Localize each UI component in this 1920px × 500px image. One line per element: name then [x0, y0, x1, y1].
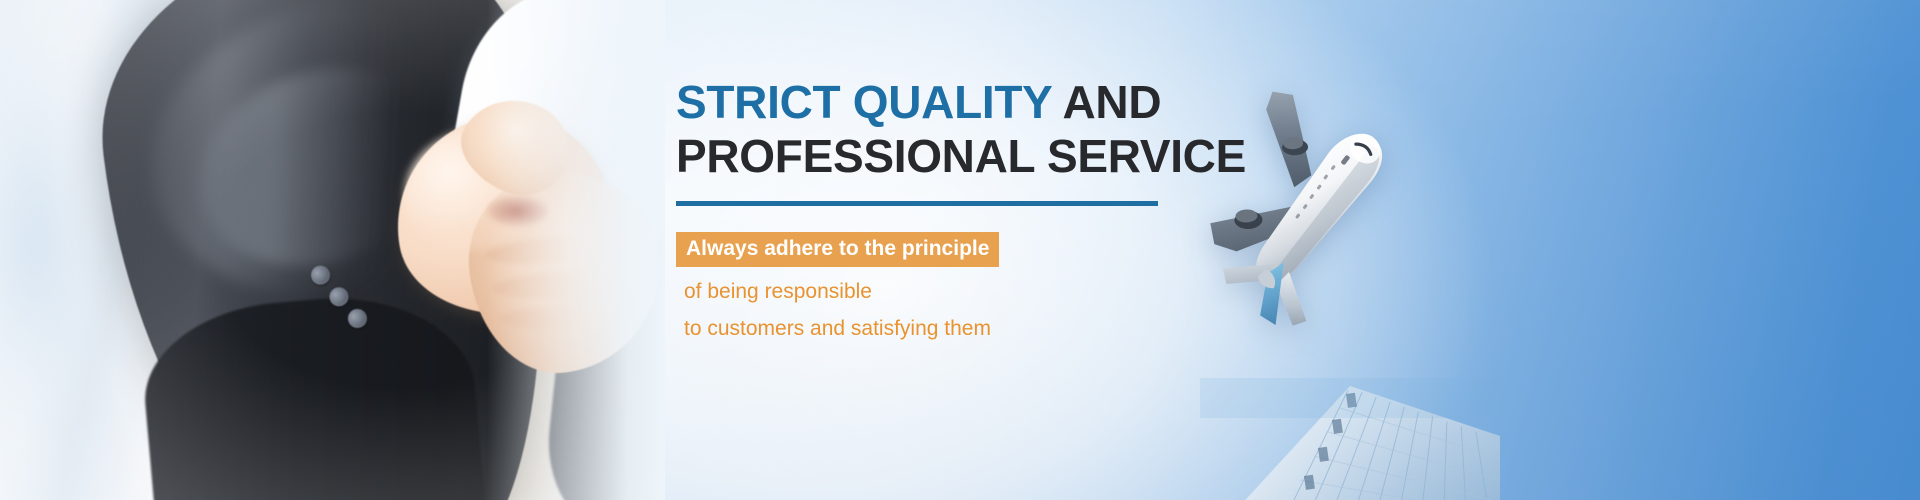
headline-line-2-text: PROFESSIONAL SERVICE — [676, 130, 1246, 182]
headline-line-1: STRICT QUALITY AND — [676, 76, 1236, 128]
handshake-photo — [0, 0, 665, 500]
headline-dark-text: AND — [1052, 76, 1162, 128]
headline-divider — [676, 201, 1158, 206]
headline-accent-text: STRICT QUALITY — [676, 76, 1052, 128]
tagline-highlight-box: Always adhere to the principle — [676, 232, 999, 268]
headline-line-2: PROFESSIONAL SERVICE — [676, 130, 1236, 182]
photo-right-fade — [487, 0, 665, 500]
tagline-line-3: to customers and satisfying them — [684, 317, 1236, 340]
promotional-banner: STRICT QUALITY AND PROFESSIONAL SERVICE … — [0, 0, 1920, 500]
tagline-line-2: of being responsible — [684, 280, 1236, 303]
banner-text-block: STRICT QUALITY AND PROFESSIONAL SERVICE … — [676, 76, 1236, 341]
